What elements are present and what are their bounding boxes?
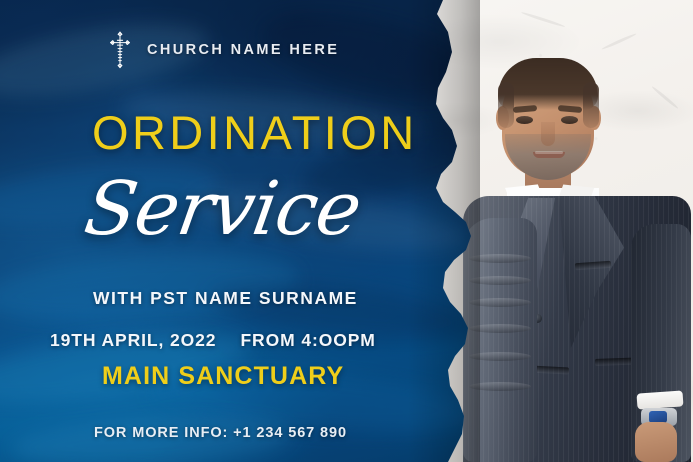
event-venue: MAIN SANCTUARY xyxy=(102,362,344,391)
ordination-service-poster: CHURCH NAME HERE ORDINATION Service WITH… xyxy=(0,0,693,462)
officiant-line: WITH PST NAME SURNAME xyxy=(93,288,358,309)
event-time: FROM 4:OOPM xyxy=(240,330,375,351)
church-name: CHURCH NAME HERE xyxy=(147,42,339,58)
nose xyxy=(541,122,555,146)
hand xyxy=(635,422,677,462)
ornate-cross-icon xyxy=(107,30,133,70)
date-time-line: 19TH APRIL, 2O22 FROM 4:OOPM xyxy=(50,330,376,351)
lip-highlight xyxy=(535,151,563,154)
poster-title: ORDINATION xyxy=(92,109,418,156)
event-date: 19TH APRIL, 2O22 xyxy=(50,330,216,351)
eye-right xyxy=(561,116,578,124)
brand-lockup: CHURCH NAME HERE xyxy=(107,30,339,70)
eye-left xyxy=(516,116,533,124)
poster-subtitle-script: Service xyxy=(80,172,365,246)
pastor-photo xyxy=(455,48,693,462)
contact-info: FOR MORE INFO: +1 234 567 890 xyxy=(94,425,347,441)
hair-side-right xyxy=(583,82,599,128)
shirt-cuff xyxy=(636,390,683,409)
hair-side-left xyxy=(498,82,514,128)
